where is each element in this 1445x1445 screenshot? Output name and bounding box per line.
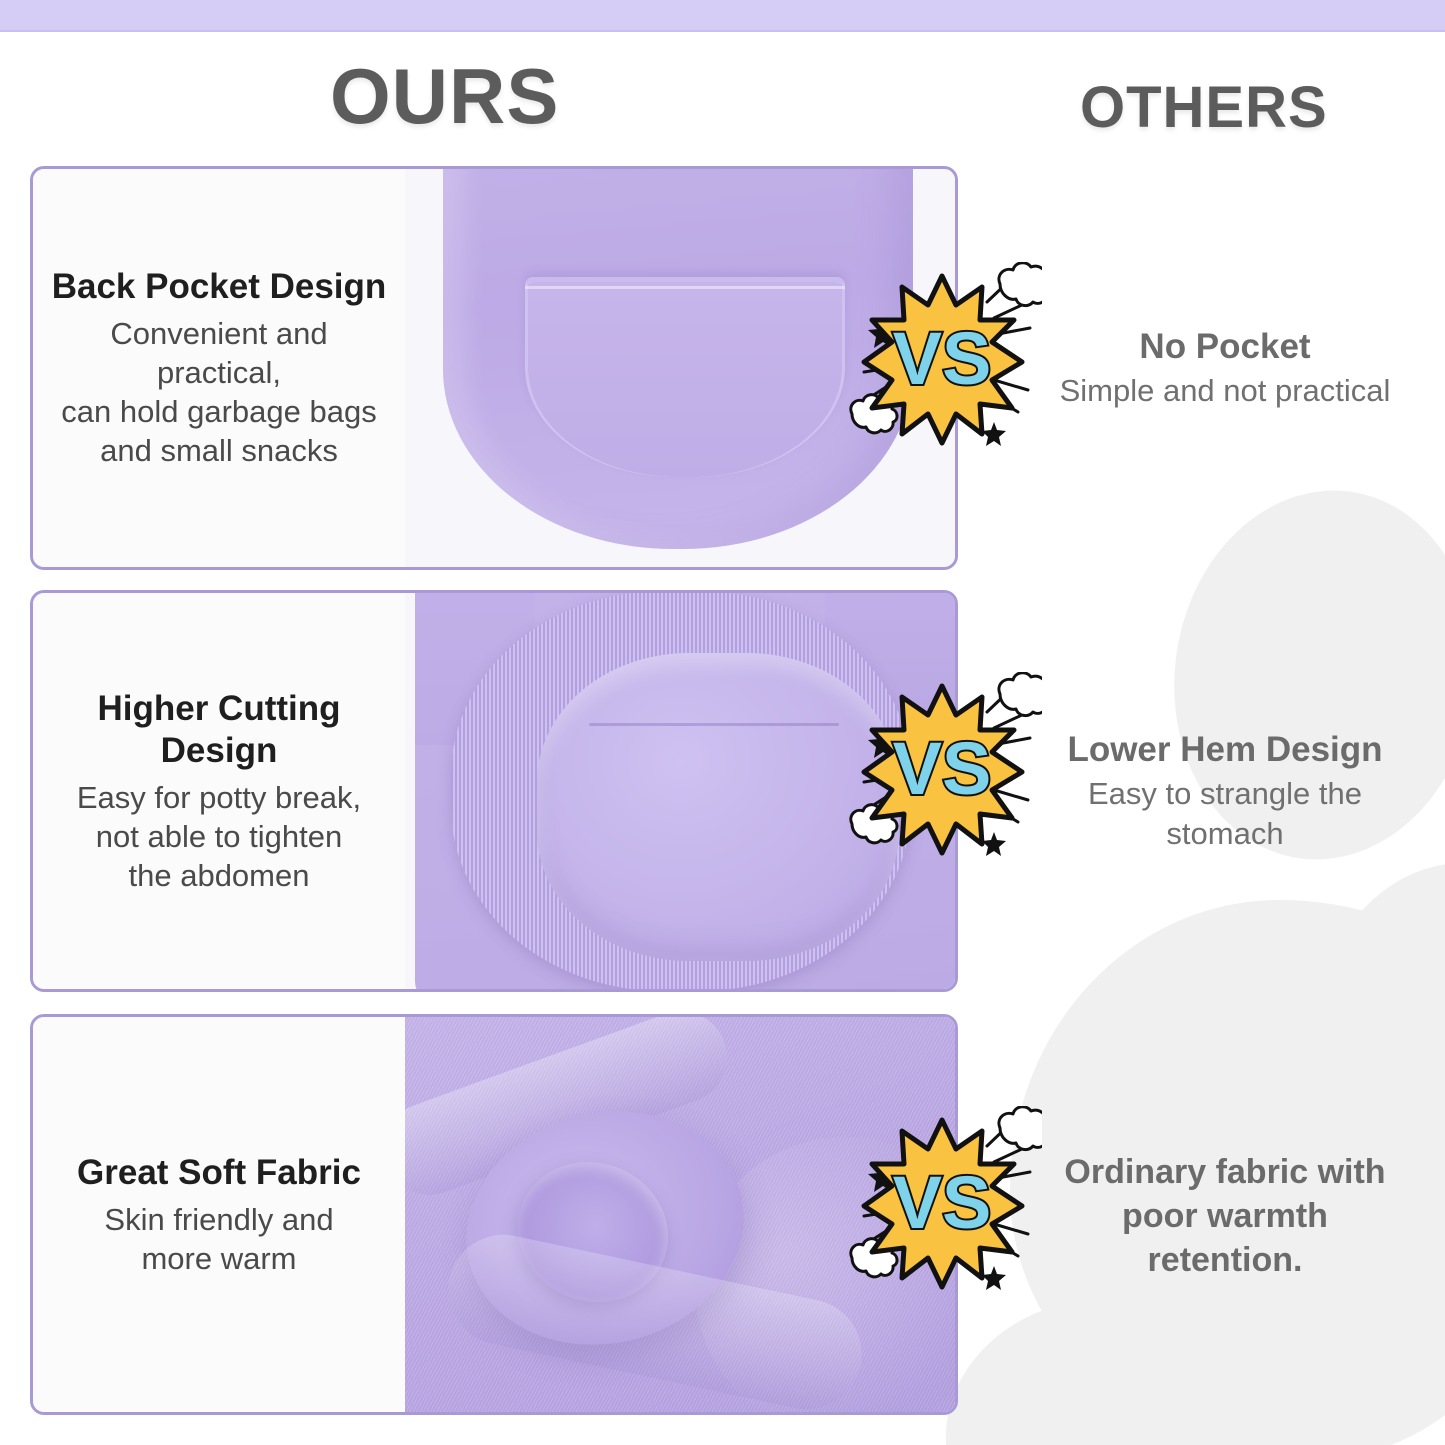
vs-badge-2: VS — [842, 672, 1042, 867]
others-feature-block-1: No Pocket Simple and not practical — [1016, 325, 1434, 411]
comparison-card-row-1: Back Pocket Design Convenient and practi… — [30, 166, 958, 570]
hoodie-pocket-shape — [525, 277, 845, 477]
comparison-card-row-3: Great Soft Fabric Skin friendly and more… — [30, 1014, 958, 1415]
others-feature-title-1: No Pocket — [1016, 325, 1434, 369]
ours-feature-title-3: Great Soft Fabric — [77, 1152, 361, 1194]
others-heading: OTHERS — [1080, 78, 1328, 138]
ours-feature-desc-1: Convenient and practical, can hold garba… — [45, 314, 393, 470]
ours-feature-text-1: Back Pocket Design Convenient and practi… — [33, 169, 405, 567]
others-feature-desc-2: Easy to strangle the stomach — [1016, 774, 1434, 854]
others-feature-block-2: Lower Hem Design Easy to strangle the st… — [1016, 728, 1434, 854]
ours-feature-desc-3: Skin friendly and more warm — [104, 1200, 333, 1278]
ours-feature-desc-2: Easy for potty break, not able to tighte… — [77, 778, 361, 895]
star-icon — [982, 422, 1006, 446]
others-feature-desc-1: Simple and not practical — [1016, 371, 1434, 411]
pocket-seam-line — [525, 286, 845, 289]
vs-label: VS — [893, 727, 992, 810]
puff-cloud-icon — [999, 673, 1042, 716]
comparison-infographic: OURS OTHERS Back Pocket Design Convenien… — [0, 0, 1445, 1445]
comparison-card-row-2: Higher Cutting Design Easy for potty bre… — [30, 590, 958, 992]
vs-label: VS — [893, 317, 992, 400]
star-icon — [982, 832, 1006, 856]
ours-feature-title-2: Higher Cutting Design — [97, 688, 340, 772]
vs-badge-3: VS — [842, 1106, 1042, 1301]
others-feature-title-2: Lower Hem Design — [1016, 728, 1434, 772]
puff-cloud-icon — [999, 263, 1042, 306]
ours-feature-text-2: Higher Cutting Design Easy for potty bre… — [33, 593, 405, 989]
others-feature-title-3: Ordinary fabric with poor warmth retenti… — [1016, 1150, 1434, 1282]
top-accent-bar — [0, 0, 1445, 32]
vs-badge-1: VS — [842, 262, 1042, 457]
ours-feature-title-1: Back Pocket Design — [52, 266, 387, 308]
vs-label: VS — [893, 1161, 992, 1244]
star-icon — [982, 1266, 1006, 1290]
ours-heading: OURS — [330, 56, 559, 136]
others-feature-block-3: Ordinary fabric with poor warmth retenti… — [1016, 1150, 1434, 1284]
puff-cloud-icon — [999, 1107, 1042, 1150]
fabric-crease-line — [589, 723, 839, 726]
ours-feature-text-3: Great Soft Fabric Skin friendly and more… — [33, 1017, 405, 1412]
